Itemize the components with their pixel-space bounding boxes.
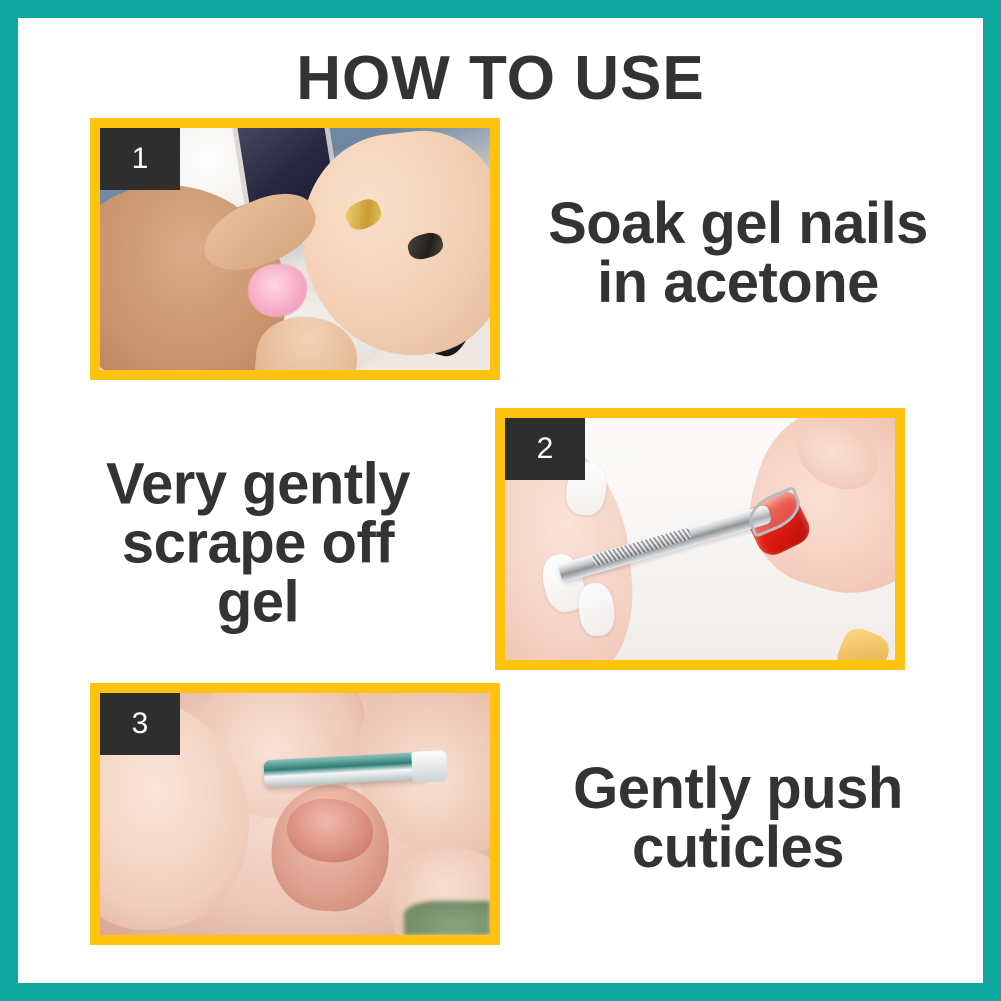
step-2-caption-line-2: scrape off	[38, 513, 478, 572]
step-row-3: 3 Gently push cuticles	[18, 683, 983, 953]
step-2-caption-line-3: gel	[38, 573, 478, 632]
step-2-photo-frame: 2	[495, 408, 905, 670]
page-title: HOW TO USE	[18, 48, 983, 110]
step-3-photo: 3	[100, 693, 490, 935]
step-1-caption-line-1: Soak gel nails	[518, 194, 958, 253]
step-3-caption: Gently push cuticles	[518, 759, 958, 877]
poster-inner: HOW TO USE	[18, 18, 983, 983]
step-2-caption-line-1: Very gently	[38, 454, 478, 513]
step-1-caption: Soak gel nails in acetone	[518, 194, 958, 312]
step-1-photo-frame: 1	[90, 118, 500, 380]
photo3-green-shadow	[404, 901, 490, 935]
photo3-tool-tip	[411, 750, 448, 783]
step-1-caption-line-2: in acetone	[518, 253, 958, 312]
step-2-number-badge: 2	[505, 418, 585, 480]
photo1-cotton-pad	[248, 264, 307, 317]
step-3-caption-line-2: cuticles	[518, 818, 958, 877]
step-1-number-badge: 1	[100, 128, 180, 190]
step-1-photo: 1	[100, 128, 490, 370]
step-2-caption: Very gently scrape off gel	[38, 454, 478, 631]
step-3-photo-frame: 3	[90, 683, 500, 945]
step-3-caption-line-1: Gently push	[518, 759, 958, 818]
step-3-number-badge: 3	[100, 693, 180, 755]
poster: HOW TO USE	[0, 0, 1001, 1001]
step-2-photo: 2	[505, 418, 895, 660]
step-row-2: Very gently scrape off gel	[18, 408, 983, 678]
step-row-1: 1 Soak gel nails in acetone	[18, 118, 983, 388]
